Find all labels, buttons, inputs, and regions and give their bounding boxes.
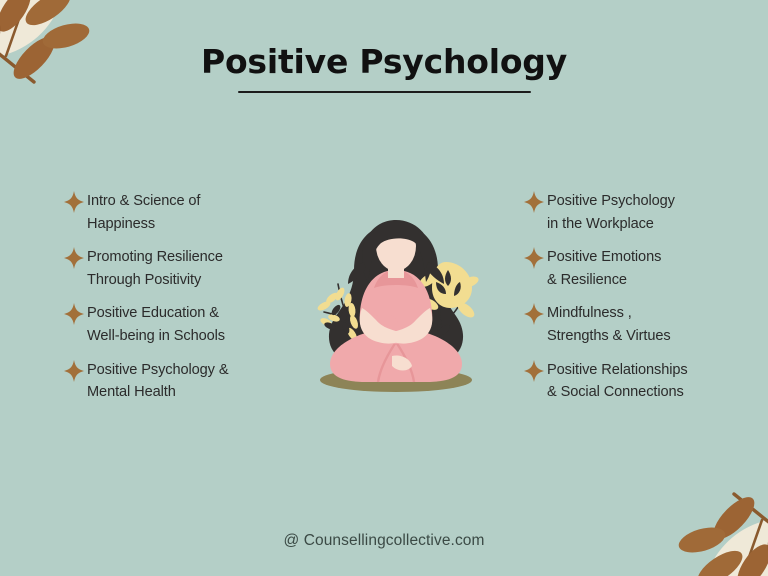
list-item[interactable]: Positive Relationships & Social Connecti…	[524, 359, 756, 404]
right-topic-list: Positive Psychology in the Workplace Pos…	[524, 190, 756, 415]
list-item-label: Positive Psychology & Mental Health	[87, 359, 228, 404]
list-item[interactable]: Positive Psychology in the Workplace	[524, 190, 756, 235]
bottom-right-decoration	[616, 464, 768, 576]
four-point-star-icon	[64, 247, 84, 269]
list-item-label: Positive Psychology in the Workplace	[547, 190, 675, 235]
list-item-label: Positive Emotions & Resilience	[547, 246, 661, 291]
four-point-star-icon	[64, 360, 84, 382]
list-item-label: Positive Relationships & Social Connecti…	[547, 359, 688, 404]
list-item[interactable]: Positive Emotions & Resilience	[524, 246, 756, 291]
list-item[interactable]: Mindfulness , Strengths & Virtues	[524, 302, 756, 347]
list-item[interactable]: Intro & Science of Happiness	[64, 190, 296, 235]
list-item-label: Mindfulness , Strengths & Virtues	[547, 302, 671, 347]
list-item[interactable]: Positive Education & Well-being in Schoo…	[64, 302, 296, 347]
footer-text: @ Counsellingcollective.com	[283, 532, 484, 549]
slide-canvas: Positive Psychology Intro & Science of H…	[0, 0, 768, 576]
list-item-label: Promoting Resilience Through Positivity	[87, 246, 223, 291]
left-topic-list: Intro & Science of Happiness Promoting R…	[64, 190, 296, 415]
four-point-star-icon	[524, 191, 544, 213]
list-item[interactable]: Promoting Resilience Through Positivity	[64, 246, 296, 291]
four-point-star-icon	[524, 303, 544, 325]
meditating-woman-illustration	[300, 208, 492, 400]
four-point-star-icon	[524, 360, 544, 382]
list-item-label: Positive Education & Well-being in Schoo…	[87, 302, 225, 347]
four-point-star-icon	[64, 191, 84, 213]
four-point-star-icon	[64, 303, 84, 325]
page-title: Positive Psychology	[0, 44, 768, 80]
title-underline	[238, 91, 531, 93]
list-item[interactable]: Positive Psychology & Mental Health	[64, 359, 296, 404]
four-point-star-icon	[524, 247, 544, 269]
footer: @ Counsellingcollective.com	[0, 532, 768, 550]
title-block: Positive Psychology	[0, 44, 768, 93]
list-item-label: Intro & Science of Happiness	[87, 190, 200, 235]
